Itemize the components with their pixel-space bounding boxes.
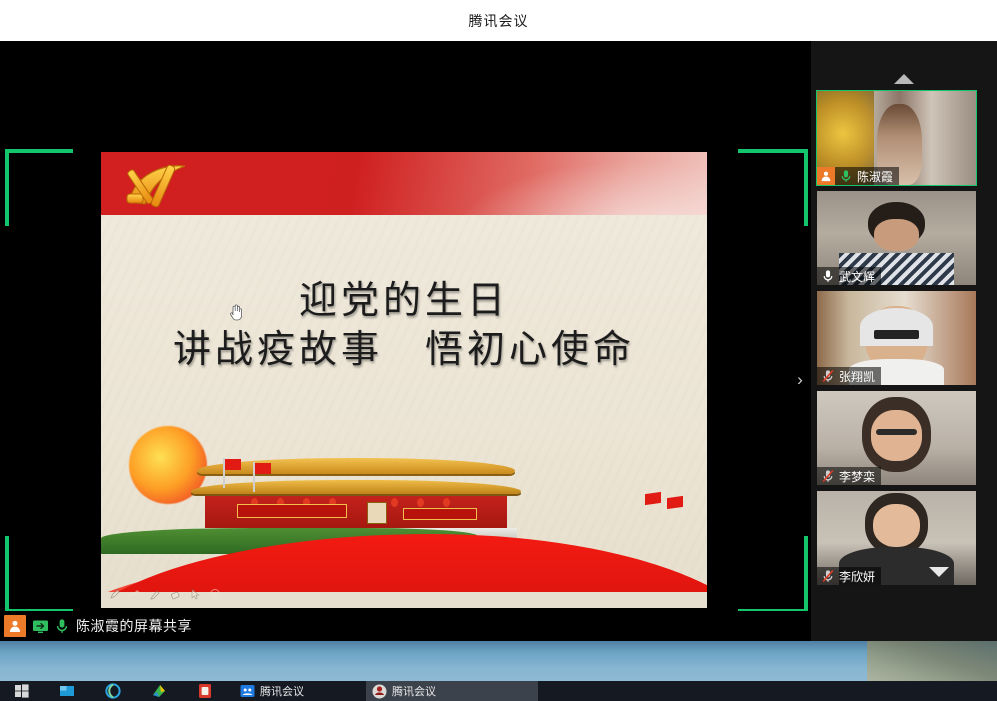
microphone-on-icon (55, 618, 69, 634)
media-player-icon[interactable] (136, 681, 182, 701)
taskbar-task-active-meeting[interactable]: 腾讯会议 (366, 681, 538, 701)
host-person-icon (817, 167, 835, 185)
participant-tile[interactable]: 陈淑霞 (817, 91, 976, 185)
shared-slide[interactable]: 迎党的生日 讲战疫故事 悟初心使命 (101, 152, 707, 608)
participant-name: 李梦栾 (839, 468, 875, 485)
chevron-right-icon[interactable]: › (792, 369, 808, 391)
triangle-down-icon[interactable] (928, 565, 950, 583)
squiggle-icon[interactable] (129, 588, 141, 600)
microphone-muted-icon (819, 469, 836, 483)
host-person-icon (4, 615, 26, 637)
screen-root: 腾讯会议 (0, 0, 997, 701)
annotation-toolbar[interactable] (109, 588, 221, 600)
participant-name-chip: 陈淑霞 (817, 167, 899, 185)
taskbar-task-label: 腾讯会议 (392, 683, 436, 699)
participant-name: 张翔凯 (839, 368, 875, 385)
share-bracket-top-left (5, 149, 73, 226)
screen-share-status-bar: 陈淑霞的屏幕共享 (0, 611, 811, 641)
laser-dot-icon[interactable] (209, 588, 221, 600)
participant-tile[interactable]: 李梦栾 (817, 391, 976, 485)
windows-taskbar: 腾讯会议 腾讯会议 (0, 681, 997, 701)
participant-tile[interactable]: 武文辉 (817, 191, 976, 285)
participant-tile[interactable]: 李欣妍 (817, 491, 976, 585)
participant-tile[interactable]: 张翔凯 (817, 291, 976, 385)
share-bracket-bottom-left (5, 536, 73, 613)
participant-name: 陈淑霞 (857, 168, 893, 185)
pen-icon[interactable] (109, 588, 121, 600)
eraser-icon[interactable] (169, 588, 181, 600)
slide-title-line-2: 讲战疫故事 悟初心使命 (101, 323, 707, 375)
microphone-on-icon (819, 269, 836, 283)
slide-artwork (101, 428, 707, 608)
microphone-muted-icon (819, 369, 836, 383)
window-titlebar: 腾讯会议 (0, 0, 997, 41)
microphone-muted-icon (819, 569, 836, 583)
participant-name: 李欣妍 (839, 568, 875, 585)
shared-screen-stage: 迎党的生日 讲战疫故事 悟初心使命 (0, 41, 811, 641)
participant-name-chip: 武文辉 (817, 267, 881, 285)
browser-icon[interactable] (90, 681, 136, 701)
desktop-wallpaper: 腾讯会议 腾讯会议 (0, 641, 997, 701)
participant-panel: 陈淑霞 武文辉 (811, 41, 997, 641)
share-bracket-bottom-right (738, 536, 808, 613)
highlighter-icon[interactable] (149, 588, 161, 600)
slide-title: 迎党的生日 讲战疫故事 悟初心使命 (101, 277, 707, 375)
file-explorer-icon[interactable] (44, 681, 90, 701)
slide-title-line-1: 迎党的生日 (101, 277, 707, 323)
window-title: 腾讯会议 (469, 11, 529, 31)
participant-name: 武文辉 (839, 268, 875, 285)
meeting-window-icon (372, 684, 387, 699)
triangle-up-icon[interactable] (811, 73, 997, 85)
microphone-on-icon (837, 169, 854, 183)
screen-share-icon (32, 619, 49, 634)
hand-cursor-icon (228, 303, 244, 321)
tencent-meeting-icon (240, 684, 255, 698)
taskbar-task-label: 腾讯会议 (260, 683, 304, 699)
windows-start-icon[interactable] (0, 681, 44, 701)
pdf-reader-icon[interactable] (182, 681, 228, 701)
pointer-icon[interactable] (189, 588, 201, 600)
taskbar-task-tencent-meeting[interactable]: 腾讯会议 (234, 681, 310, 701)
screen-share-owner-label: 陈淑霞的屏幕共享 (76, 616, 192, 636)
participant-name-chip: 张翔凯 (817, 367, 881, 385)
hammer-and-sickle-icon (119, 158, 205, 214)
participant-name-chip: 李梦栾 (817, 467, 881, 485)
participant-name-chip: 李欣妍 (817, 567, 881, 585)
share-bracket-top-right (738, 149, 808, 226)
